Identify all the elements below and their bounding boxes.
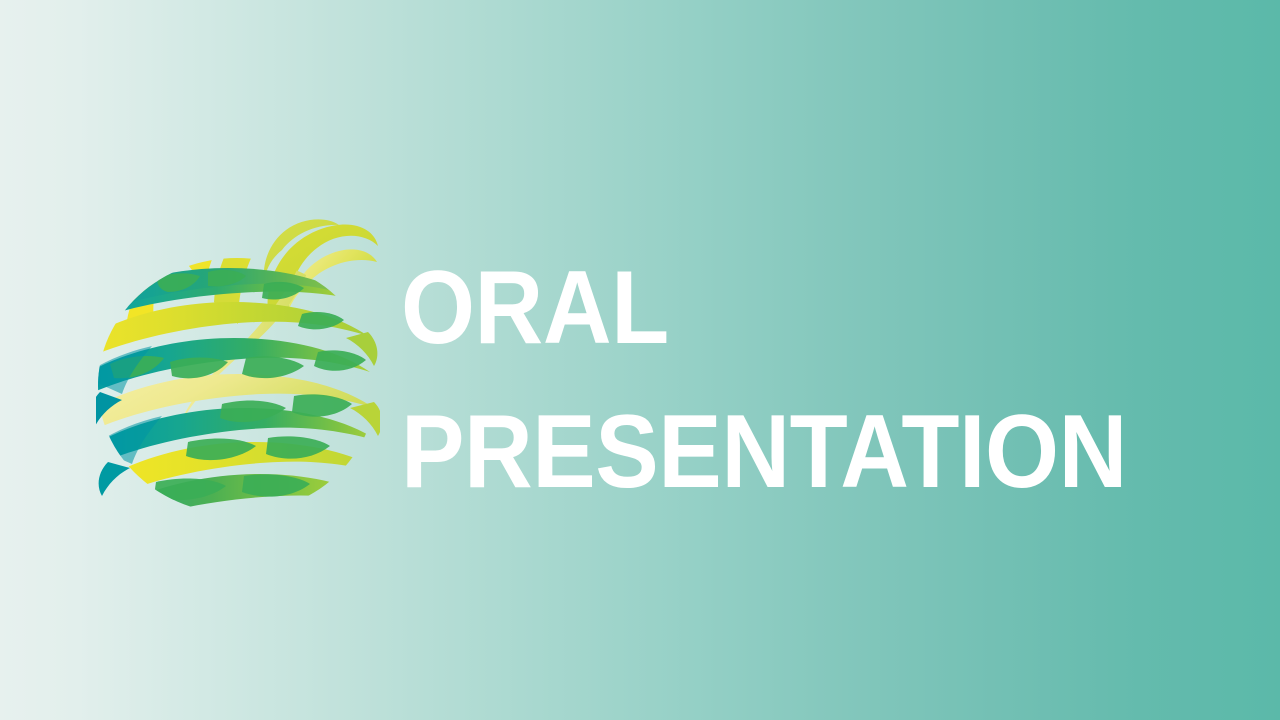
title-line-presentation: PRESENTATION [401, 380, 1133, 524]
presentation-slide: ORAL PRESENTATION [0, 0, 1280, 720]
globe-ribbon-leaf-logo [96, 206, 380, 514]
title-line-oral: ORAL [401, 236, 1133, 380]
slide-title-block: ORAL PRESENTATION [401, 236, 1201, 524]
